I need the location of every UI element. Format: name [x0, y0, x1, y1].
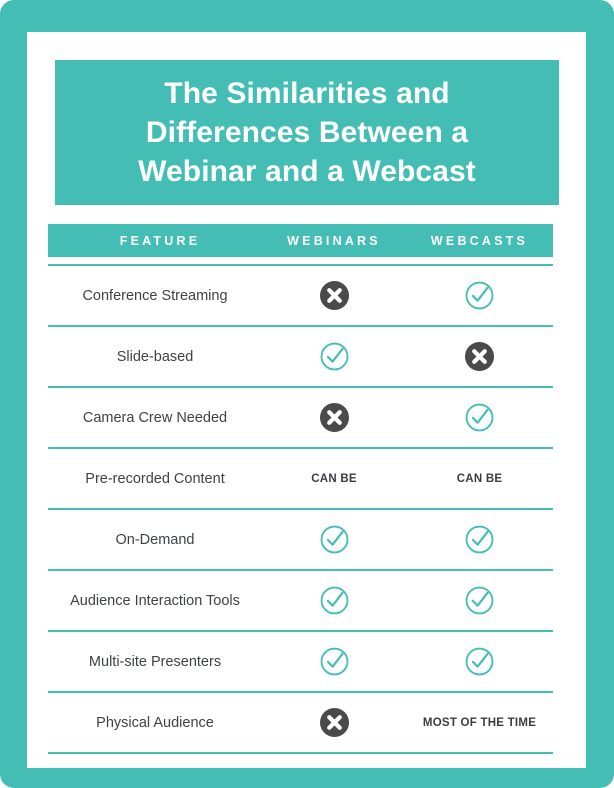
- cell-webinars: [262, 707, 406, 738]
- cross-icon: [319, 280, 350, 311]
- table-row: Pre-recorded ContentCAN BECAN BE: [48, 449, 553, 508]
- table-row: Camera Crew Needed: [48, 388, 553, 447]
- infographic-poster: The Similarities and Differences Between…: [0, 0, 614, 788]
- check-icon: [319, 646, 350, 677]
- check-icon: [319, 585, 350, 616]
- column-header-webcasts: WEBCASTS: [406, 234, 553, 248]
- text-mark: CAN BE: [457, 473, 503, 485]
- cell-feature-label: On-Demand: [48, 532, 262, 548]
- cell-webcasts: [406, 280, 553, 311]
- cell-webinars: [262, 646, 406, 677]
- table-header-row: FEATURE WEBINARS WEBCASTS: [48, 224, 553, 257]
- cell-feature-label: Physical Audience: [48, 715, 262, 731]
- cell-webcasts: CAN BE: [406, 473, 553, 485]
- table-row: Audience Interaction Tools: [48, 571, 553, 630]
- cell-feature-label: Conference Streaming: [48, 288, 262, 304]
- cross-icon: [464, 341, 495, 372]
- cell-feature-label: Audience Interaction Tools: [48, 593, 262, 609]
- cell-webinars: [262, 524, 406, 555]
- cell-webcasts: MOST OF THE TIME: [406, 717, 553, 729]
- cell-webcasts: [406, 341, 553, 372]
- row-divider: [48, 752, 553, 754]
- check-icon: [464, 524, 495, 555]
- table-row: Conference Streaming: [48, 266, 553, 325]
- cell-feature-label: Pre-recorded Content: [48, 471, 262, 487]
- cell-feature-label: Camera Crew Needed: [48, 410, 262, 426]
- check-icon: [319, 524, 350, 555]
- cross-icon: [319, 707, 350, 738]
- check-icon: [464, 280, 495, 311]
- comparison-table: Conference StreamingSlide-basedCamera Cr…: [48, 264, 553, 754]
- cell-feature-label: Multi-site Presenters: [48, 654, 262, 670]
- check-icon: [319, 341, 350, 372]
- cell-webcasts: [406, 402, 553, 433]
- table-row: Physical AudienceMOST OF THE TIME: [48, 693, 553, 752]
- cell-webcasts: [406, 585, 553, 616]
- cell-webcasts: [406, 524, 553, 555]
- cell-feature-label: Slide-based: [48, 349, 262, 365]
- page-title: The Similarities and Differences Between…: [128, 74, 486, 191]
- column-header-webinars: WEBINARS: [262, 234, 406, 248]
- cell-webinars: [262, 585, 406, 616]
- table-row: On-Demand: [48, 510, 553, 569]
- title-banner: The Similarities and Differences Between…: [55, 60, 559, 205]
- content-card: The Similarities and Differences Between…: [27, 32, 586, 768]
- column-header-feature: FEATURE: [48, 234, 262, 248]
- text-mark: MOST OF THE TIME: [423, 717, 536, 729]
- table-row: Multi-site Presenters: [48, 632, 553, 691]
- cell-webinars: [262, 341, 406, 372]
- text-mark: CAN BE: [311, 473, 357, 485]
- check-icon: [464, 646, 495, 677]
- check-icon: [464, 585, 495, 616]
- check-icon: [464, 402, 495, 433]
- cell-webcasts: [406, 646, 553, 677]
- cell-webinars: [262, 402, 406, 433]
- cell-webinars: CAN BE: [262, 473, 406, 485]
- cross-icon: [319, 402, 350, 433]
- table-row: Slide-based: [48, 327, 553, 386]
- cell-webinars: [262, 280, 406, 311]
